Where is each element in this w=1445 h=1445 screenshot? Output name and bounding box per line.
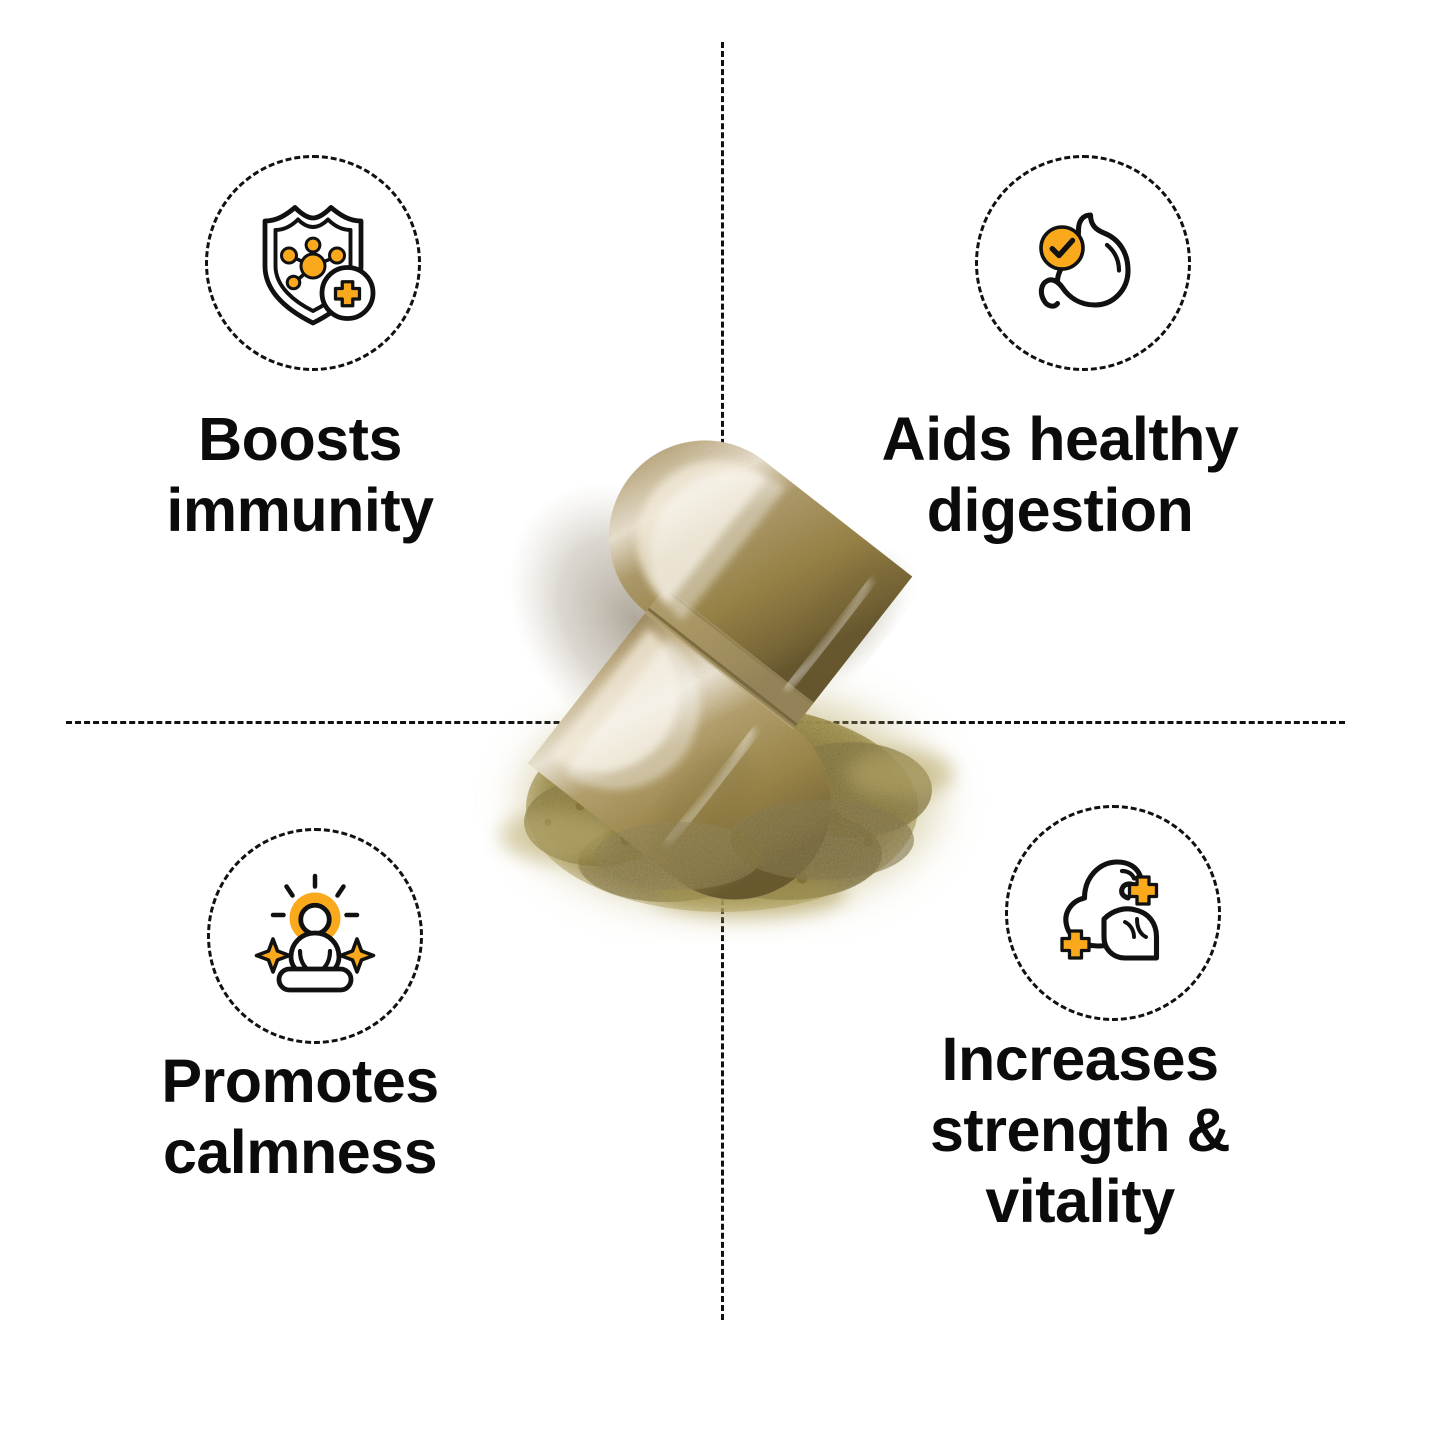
benefit-icon-ring-digestion — [975, 155, 1191, 371]
benefit-label-immunity: Boosts immunity — [40, 404, 560, 546]
benefit-label-line: calmness — [40, 1117, 560, 1188]
benefit-label-line: Boosts — [40, 404, 560, 475]
benefit-label-line: Aids healthy — [800, 404, 1320, 475]
benefit-label-strength: Increases strength & vitality — [820, 1024, 1340, 1236]
benefit-label-line: Increases — [820, 1024, 1340, 1095]
powder-pile — [500, 682, 954, 918]
benefit-label-line: immunity — [40, 475, 560, 546]
benefit-label-line: strength & — [820, 1095, 1340, 1166]
benefit-icon-ring-immunity — [205, 155, 421, 371]
horizontal-divider — [66, 721, 1345, 724]
stomach-check-icon — [1008, 188, 1158, 338]
foreground-powder — [594, 800, 914, 890]
benefits-infographic: { "accent_color": "#FBA91C", "ink_color"… — [0, 0, 1445, 1445]
benefit-label-line: vitality — [820, 1166, 1340, 1237]
flexed-bicep-plus-icon — [1038, 838, 1188, 988]
benefit-label-line: Promotes — [40, 1046, 560, 1117]
benefit-label-calmness: Promotes calmness — [40, 1046, 560, 1188]
vertical-divider — [721, 42, 724, 1320]
benefit-icon-ring-calmness — [207, 828, 423, 1044]
benefit-icon-ring-strength — [1005, 805, 1221, 1021]
benefit-label-digestion: Aids healthy digestion — [800, 404, 1320, 546]
benefit-label-line: digestion — [800, 475, 1320, 546]
shield-molecule-plus-icon — [238, 188, 388, 338]
meditation-figure-icon — [240, 861, 390, 1011]
